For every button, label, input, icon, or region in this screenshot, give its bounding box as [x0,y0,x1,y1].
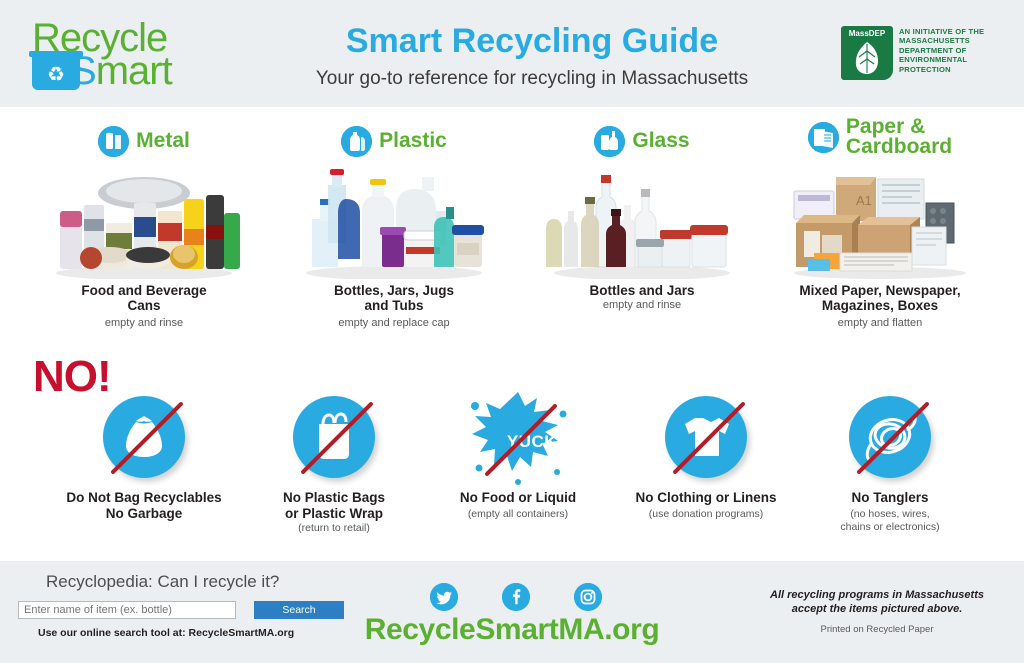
category-metal-subcaption: empty and rinse [24,317,264,329]
category-paper-subcaption: empty and flatten [760,317,1000,329]
search-input[interactable] [18,601,236,619]
no-item-label: No Plastic Bags or Plastic Wrap [228,490,440,521]
massdep-badge-name: MassDEP [841,29,893,38]
online-tool-note: Use our online search tool at: RecycleSm… [38,627,294,639]
no-item-label: No Clothing or Linens [600,490,812,506]
no-item-plastic-bags: No Plastic Bags or Plastic Wrap (return … [236,392,432,562]
glass-bottles-photo [542,159,742,279]
glass-bottle-icon [594,126,625,157]
metal-cans-photo [44,159,244,279]
yuck-splat-icon: YUCK [473,392,563,482]
category-plastic: Plastic [266,107,522,342]
category-glass-subcaption: empty and rinse [522,299,762,311]
printed-note: Printed on Recycled Paper [742,624,1012,635]
programs-note: All recycling programs in Massachusetts … [742,588,1012,616]
prohibited-items-section: NO! Do Not Bag Recyclables No Garbage [0,344,1024,561]
category-glass-label: Glass [632,131,689,151]
no-item-tanglers: No Tanglers (no hoses, wires, chains or … [792,392,988,562]
logo-smart-text: Smart [70,51,172,91]
recycle-arrows-icon: ♻ [44,64,68,86]
no-item-sublabel: (return to retail) [228,522,440,535]
search-row: Search [18,601,324,619]
no-item-bagged-recyclables: Do Not Bag Recyclables No Garbage [46,392,242,562]
category-paper-caption: Mixed Paper, Newspaper, Magazines, Boxes [760,283,1000,313]
tangler-hose-icon [845,392,935,482]
no-item-food-liquid: YUCK No Food or Liquid (empty all contai… [420,392,616,562]
recycle-smart-logo: Recycle ♻ Smart [18,18,228,92]
massdep-badge: MassDEP [841,26,893,80]
category-plastic-caption: Bottles, Jars, Jugs and Tubs [274,283,514,313]
recyclopedia-label: Recyclopedia: Can I recycle it? [46,572,279,592]
category-metal-header: Metal [16,121,272,161]
no-item-label: Do Not Bag Recyclables No Garbage [38,490,250,521]
plastic-bottle-icon [341,126,372,157]
accepted-materials-section: Metal [0,107,1024,342]
category-paper-header: Paper & Cardboard [752,117,1008,157]
trash-bag-icon [99,392,189,482]
facebook-icon[interactable] [502,583,530,611]
category-paper: Paper & Cardboard A1 [752,107,1008,342]
massdep-logo: MassDEP AN INITIATIVE OF THE MASSACHUSET… [841,26,1011,84]
category-metal: Metal [16,107,272,342]
category-plastic-header: Plastic [266,121,522,161]
category-plastic-subcaption: empty and replace cap [274,317,514,329]
header-band: Recycle ♻ Smart Smart Recycling Guide Yo… [0,0,1024,107]
no-item-label: No Tanglers [784,490,996,506]
tshirt-icon [661,392,751,482]
paper-stack-icon [808,122,839,153]
leaf-icon [850,41,884,75]
category-plastic-label: Plastic [379,131,447,151]
twitter-icon[interactable] [430,583,458,611]
category-glass-caption: Bottles and Jars [522,283,762,298]
category-paper-label: Paper & Cardboard [846,117,952,157]
category-glass: Glass [514,107,770,342]
no-item-clothing: No Clothing or Linens (use donation prog… [608,392,804,562]
page-subtitle: Your go-to reference for recycling in Ma… [272,68,792,90]
no-item-sublabel: (use donation programs) [600,508,812,521]
instagram-icon[interactable] [574,583,602,611]
no-item-sublabel: (no hoses, wires, chains or electronics) [784,508,996,534]
yuck-text: YUCK [473,432,591,452]
no-item-sublabel: (empty all containers) [412,508,624,521]
plastic-containers-photo [294,159,494,279]
massdep-initiative-text: AN INITIATIVE OF THE MASSACHUSETTS DEPAR… [899,27,1011,74]
no-item-label: No Food or Liquid [412,490,624,506]
plastic-bag-icon [289,392,379,482]
recycling-guide-poster: Recycle ♻ Smart Smart Recycling Guide Yo… [0,0,1024,663]
category-metal-label: Metal [136,131,190,151]
website-url[interactable]: RecycleSmartMA.org [312,613,712,647]
category-glass-header: Glass [514,121,770,161]
paper-cardboard-photo: A1 [780,169,980,279]
metal-can-icon [98,126,129,157]
logo-smart-s: S [70,49,96,93]
social-links [430,583,630,613]
page-title: Smart Recycling Guide [272,22,792,61]
category-metal-caption: Food and Beverage Cans [24,283,264,313]
logo-smart-rest: mart [96,49,172,93]
svg-text:A1: A1 [856,193,872,208]
